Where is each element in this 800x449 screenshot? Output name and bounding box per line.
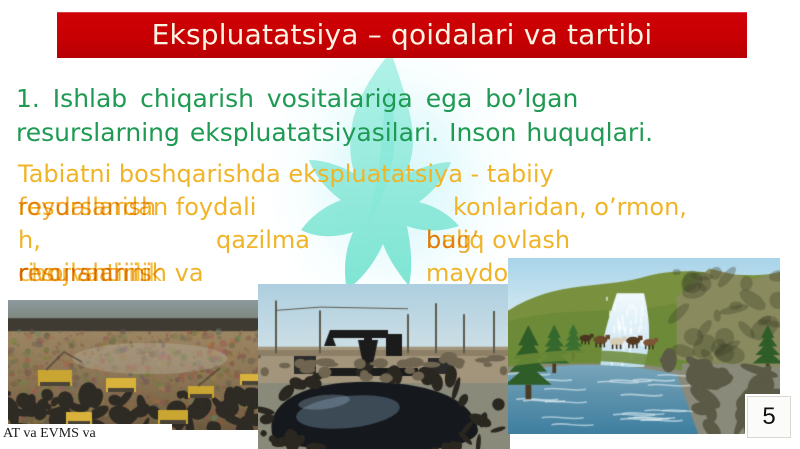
footer-caption: AT va EVMS va	[3, 426, 96, 441]
orange-text-segment: h,	[18, 224, 41, 257]
green-paragraph: 1. Ishlab chiqarish vositalariga ega bo’…	[16, 82, 776, 150]
oil-pumpjack-photo	[258, 284, 510, 449]
page-title: Ekspluatatsiya – qoidalari va tartibi	[152, 21, 653, 49]
orange-text-segment-overlap: bug’	[426, 224, 479, 257]
page-number-value: 5	[762, 403, 775, 431]
orange-row: h, qazilma baliq ovlash bug’	[16, 224, 784, 257]
orange-text-segment-overlap: chorvachilik	[18, 257, 162, 290]
quarry-mining-photo	[8, 300, 266, 430]
orange-row: Tabiatni boshqarishda ekspluatatsiya - t…	[16, 158, 784, 191]
orange-row: resurslardan foydali foydalanish konlari…	[16, 191, 784, 224]
orange-text-segment: konlaridan, o’rmon,	[453, 191, 687, 224]
slide-canvas: Ekspluatatsiya – qoidalari va tartibi 1.…	[0, 0, 800, 449]
orange-text-segment: Tabiatni boshqarishda ekspluatatsiya - t…	[18, 158, 554, 191]
orange-text-segment: qazilma	[216, 224, 310, 257]
slide-title-banner: Ekspluatatsiya – qoidalari va tartibi	[57, 12, 747, 58]
page-number-badge: 5	[747, 396, 791, 438]
green-line-1: 1. Ishlab chiqarish vositalariga ega bo’…	[16, 82, 776, 116]
green-line-2: resurslarning ekspluatatsiyasilari. Inso…	[16, 116, 776, 150]
orange-text-segment-overlap: foydalanish	[18, 191, 156, 224]
nature-waterfall-photo	[508, 258, 780, 434]
